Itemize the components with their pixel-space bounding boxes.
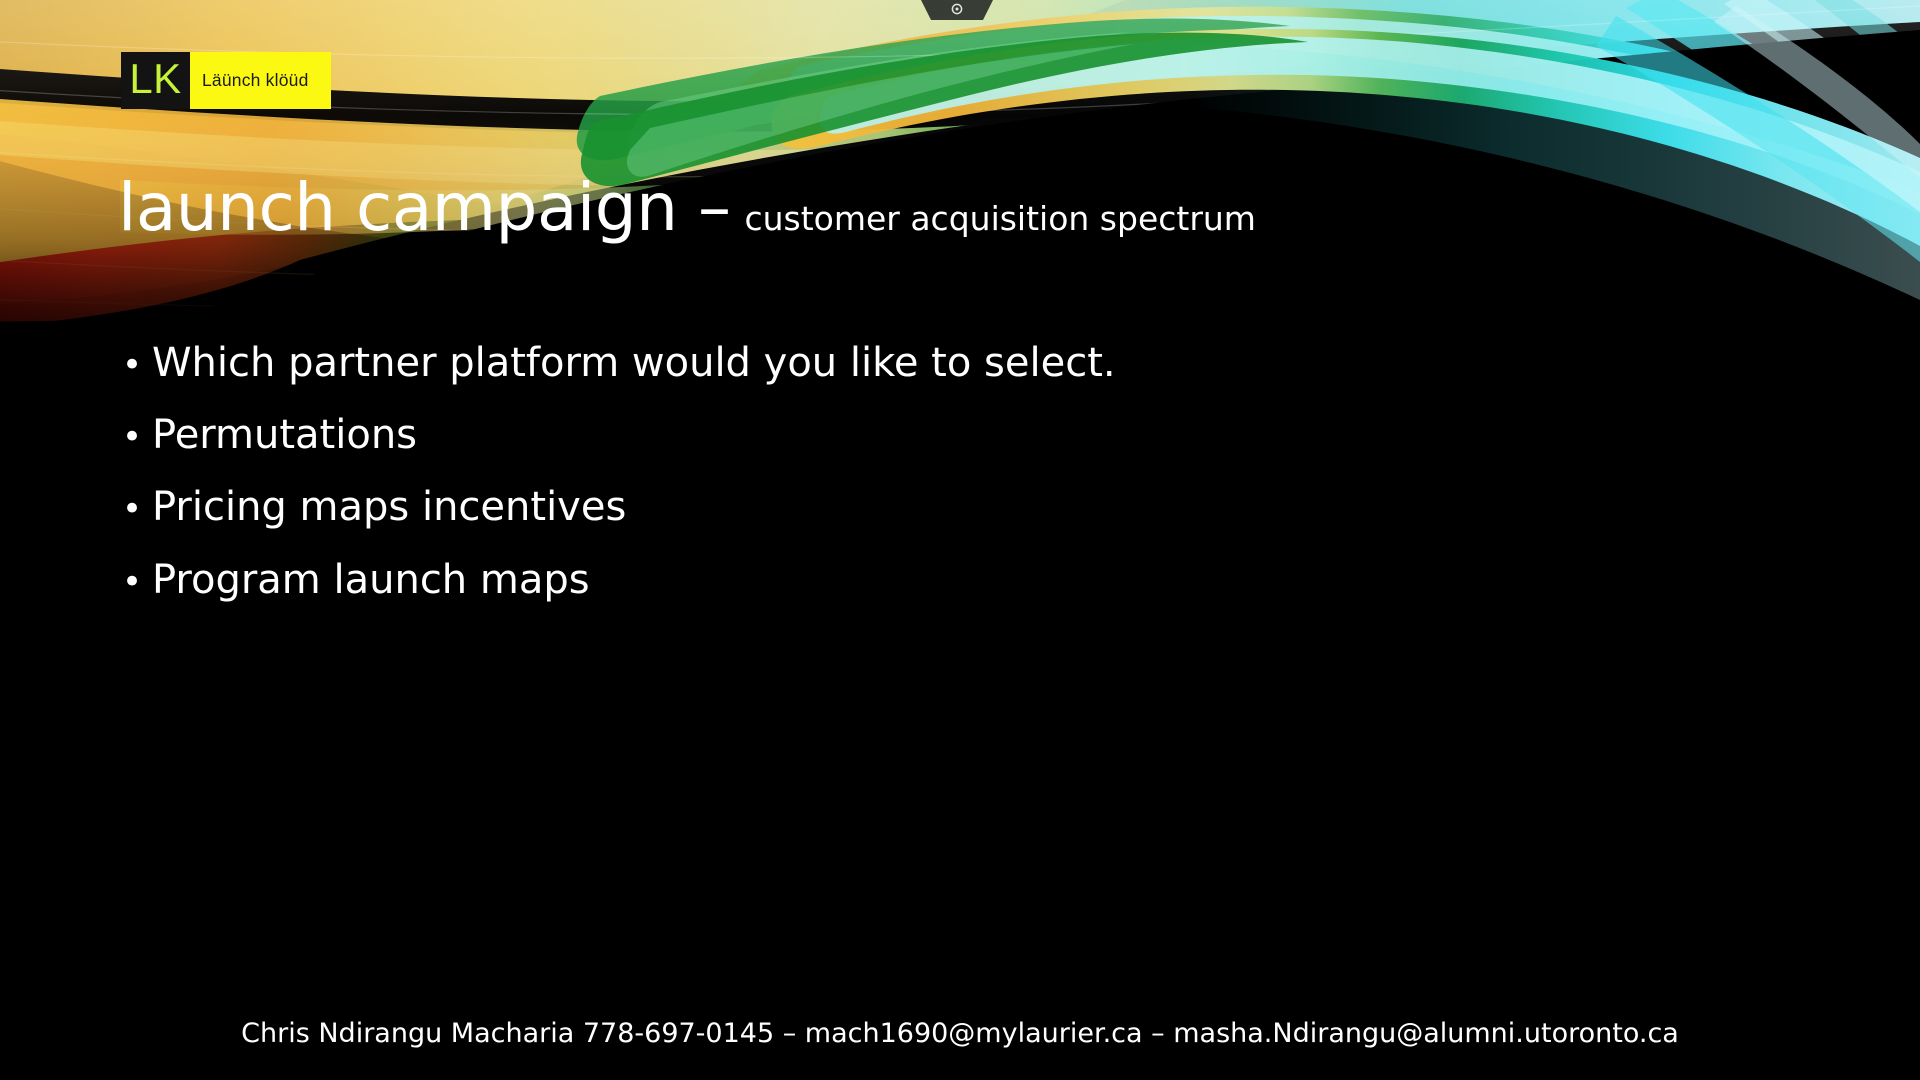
list-item: • Permutations	[122, 412, 1622, 459]
bullet-dot-icon: •	[122, 348, 152, 382]
list-item-label: Pricing maps incentives	[152, 484, 1622, 531]
list-item-label: Program launch maps	[152, 557, 1622, 604]
camera-notch	[921, 0, 993, 22]
list-item-label: Permutations	[152, 412, 1622, 459]
list-item: • Program launch maps	[122, 557, 1622, 604]
list-item: • Pricing maps incentives	[122, 484, 1622, 531]
title-main-text: launch campaign –	[118, 169, 730, 246]
bullet-dot-icon: •	[122, 420, 152, 454]
bullet-list: • Which partner platform would you like …	[122, 340, 1622, 629]
logo-mark-lk: LK	[121, 52, 190, 109]
slide-title: launch campaign –customer acquisition sp…	[118, 175, 1256, 241]
logo-wordmark: Läünch klöüd	[190, 52, 331, 109]
slide-footer: Chris Ndirangu Macharia 778-697-0145 – m…	[0, 1018, 1920, 1049]
bullet-dot-icon: •	[122, 565, 152, 599]
list-item: • Which partner platform would you like …	[122, 340, 1622, 387]
title-subtitle-text: customer acquisition spectrum	[744, 199, 1256, 238]
bullet-dot-icon: •	[122, 492, 152, 526]
list-item-label: Which partner platform would you like to…	[152, 340, 1622, 387]
logo: LK Läünch klöüd	[121, 52, 331, 109]
presentation-slide: LK Läünch klöüd launch campaign –custome…	[0, 0, 1920, 1080]
